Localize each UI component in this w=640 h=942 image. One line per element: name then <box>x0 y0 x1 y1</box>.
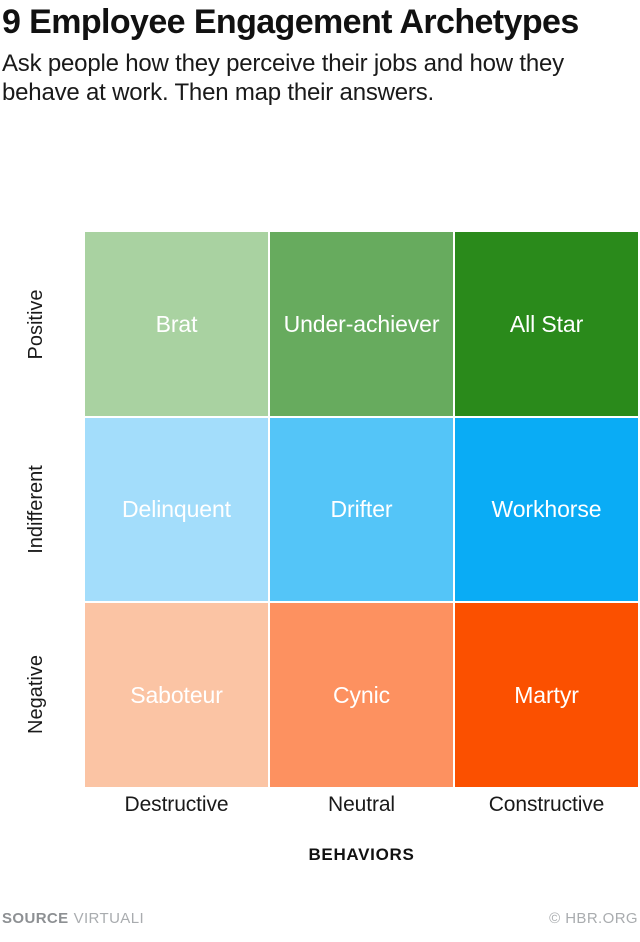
page-title: 9 Employee Engagement Archetypes <box>2 4 638 41</box>
matrix-cell-all-star: All Star <box>455 232 638 416</box>
x-axis-title: BEHAVIORS <box>85 845 638 865</box>
matrix-cell-martyr: Martyr <box>455 603 638 787</box>
matrix-cell-workhorse: Workhorse <box>455 418 638 602</box>
matrix-cell-delinquent: Delinquent <box>85 418 268 602</box>
page-subtitle: Ask people how they perceive their jobs … <box>2 50 638 107</box>
matrix-cell-cynic: Cynic <box>270 603 453 787</box>
matrix-cell-drifter: Drifter <box>270 418 453 602</box>
footer: SOURCE VIRTUALI © HBR.ORG <box>0 910 640 927</box>
x-tick-label-neutral: Neutral <box>270 793 453 817</box>
matrix-grid: Brat Under-achiever All Star Delinquent … <box>85 232 638 787</box>
x-tick-label-destructive: Destructive <box>85 793 268 817</box>
source-label: SOURCE <box>2 910 69 927</box>
source-name: VIRTUALI <box>74 910 144 927</box>
matrix-cell-underachiever: Under-achiever <box>270 232 453 416</box>
y-tick-label-positive: Positive <box>25 232 47 417</box>
copyright-notice: © HBR.ORG <box>549 910 638 927</box>
matrix-cell-brat: Brat <box>85 232 268 416</box>
x-tick-label-constructive: Constructive <box>455 793 638 817</box>
y-tick-label-indifferent: Indifferent <box>25 417 47 602</box>
archetype-matrix: Brat Under-achiever All Star Delinquent … <box>85 232 638 787</box>
y-tick-label-negative: Negative <box>25 602 47 787</box>
x-axis-tick-labels: Destructive Neutral Constructive <box>85 793 638 817</box>
header: 9 Employee Engagement Archetypes Ask peo… <box>0 0 640 107</box>
source-credit: SOURCE VIRTUALI <box>2 910 144 927</box>
matrix-cell-saboteur: Saboteur <box>85 603 268 787</box>
infographic-page: 9 Employee Engagement Archetypes Ask peo… <box>0 0 640 942</box>
